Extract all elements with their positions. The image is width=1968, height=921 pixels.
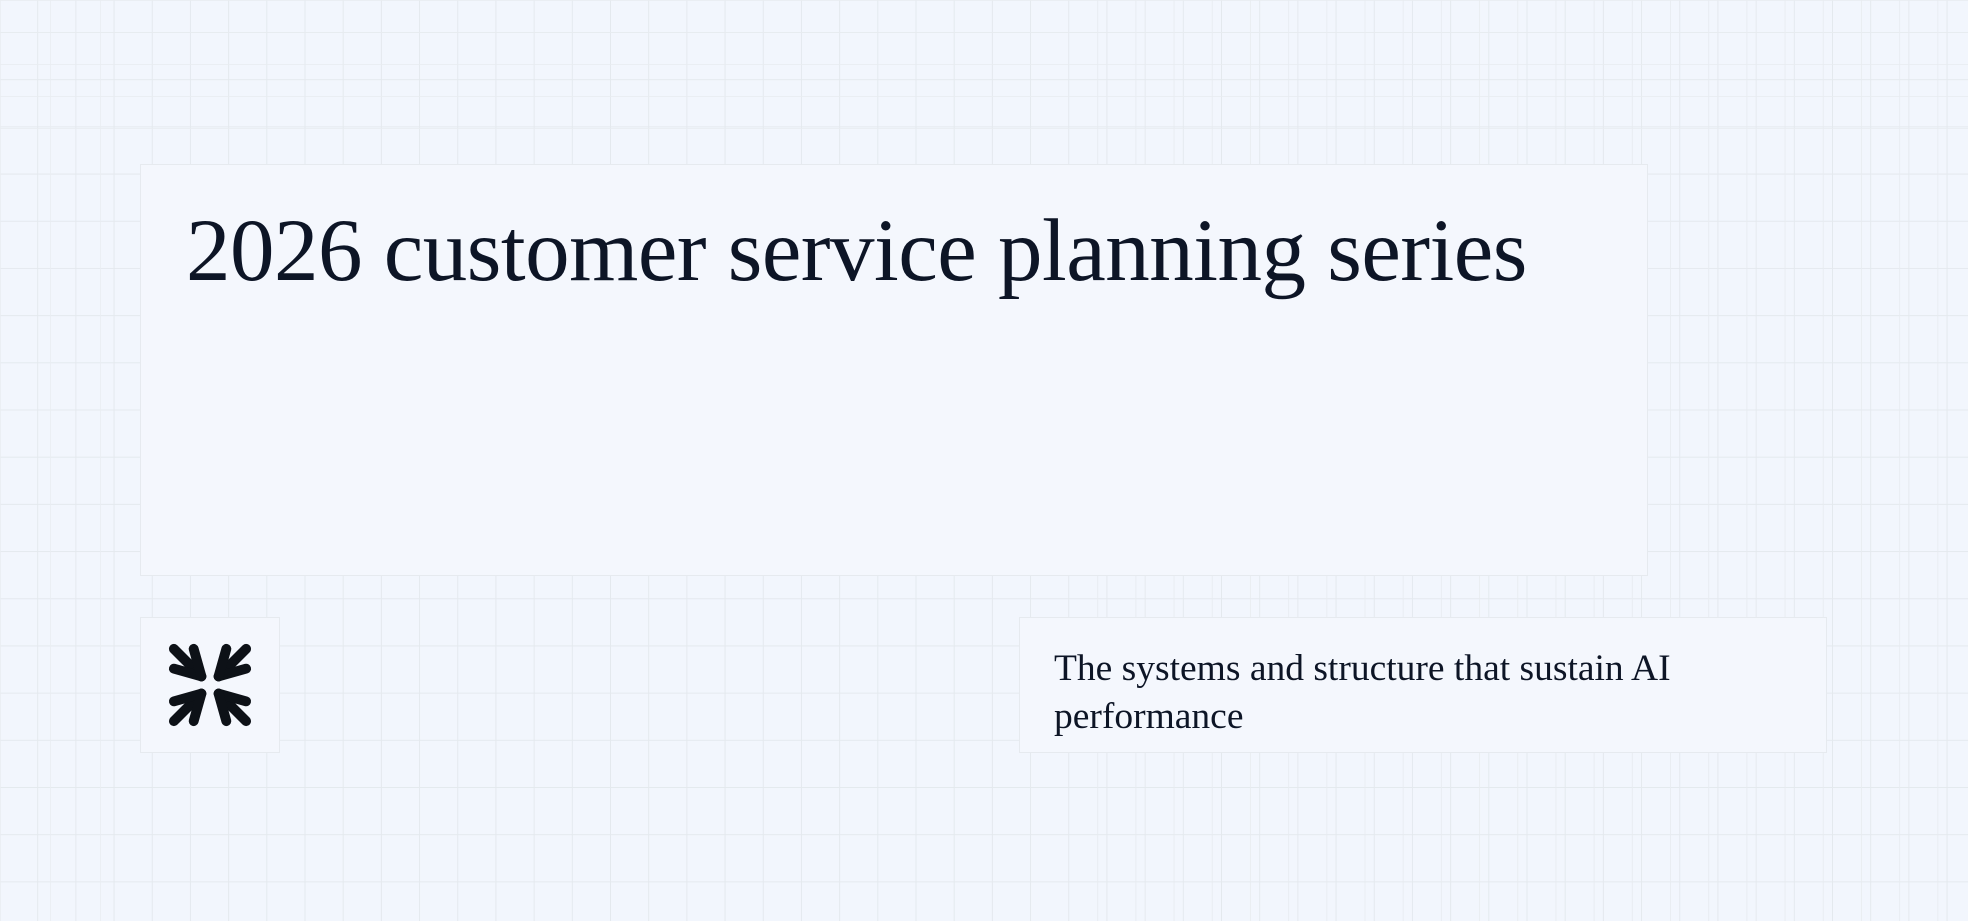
subtitle-card: The systems and structure that sustain A…	[1019, 617, 1827, 753]
page-title: 2026 customer service planning series	[186, 189, 1606, 314]
background-grid-left-rules	[0, 0, 150, 921]
page-subtitle: The systems and structure that sustain A…	[1054, 645, 1794, 741]
title-card: 2026 customer service planning series	[140, 164, 1648, 576]
logo-card	[140, 617, 280, 753]
background-grid-top-band	[0, 0, 1968, 130]
converge-arrows-logo-icon	[167, 642, 253, 728]
slide-canvas: 2026 customer service planning series	[0, 0, 1968, 921]
